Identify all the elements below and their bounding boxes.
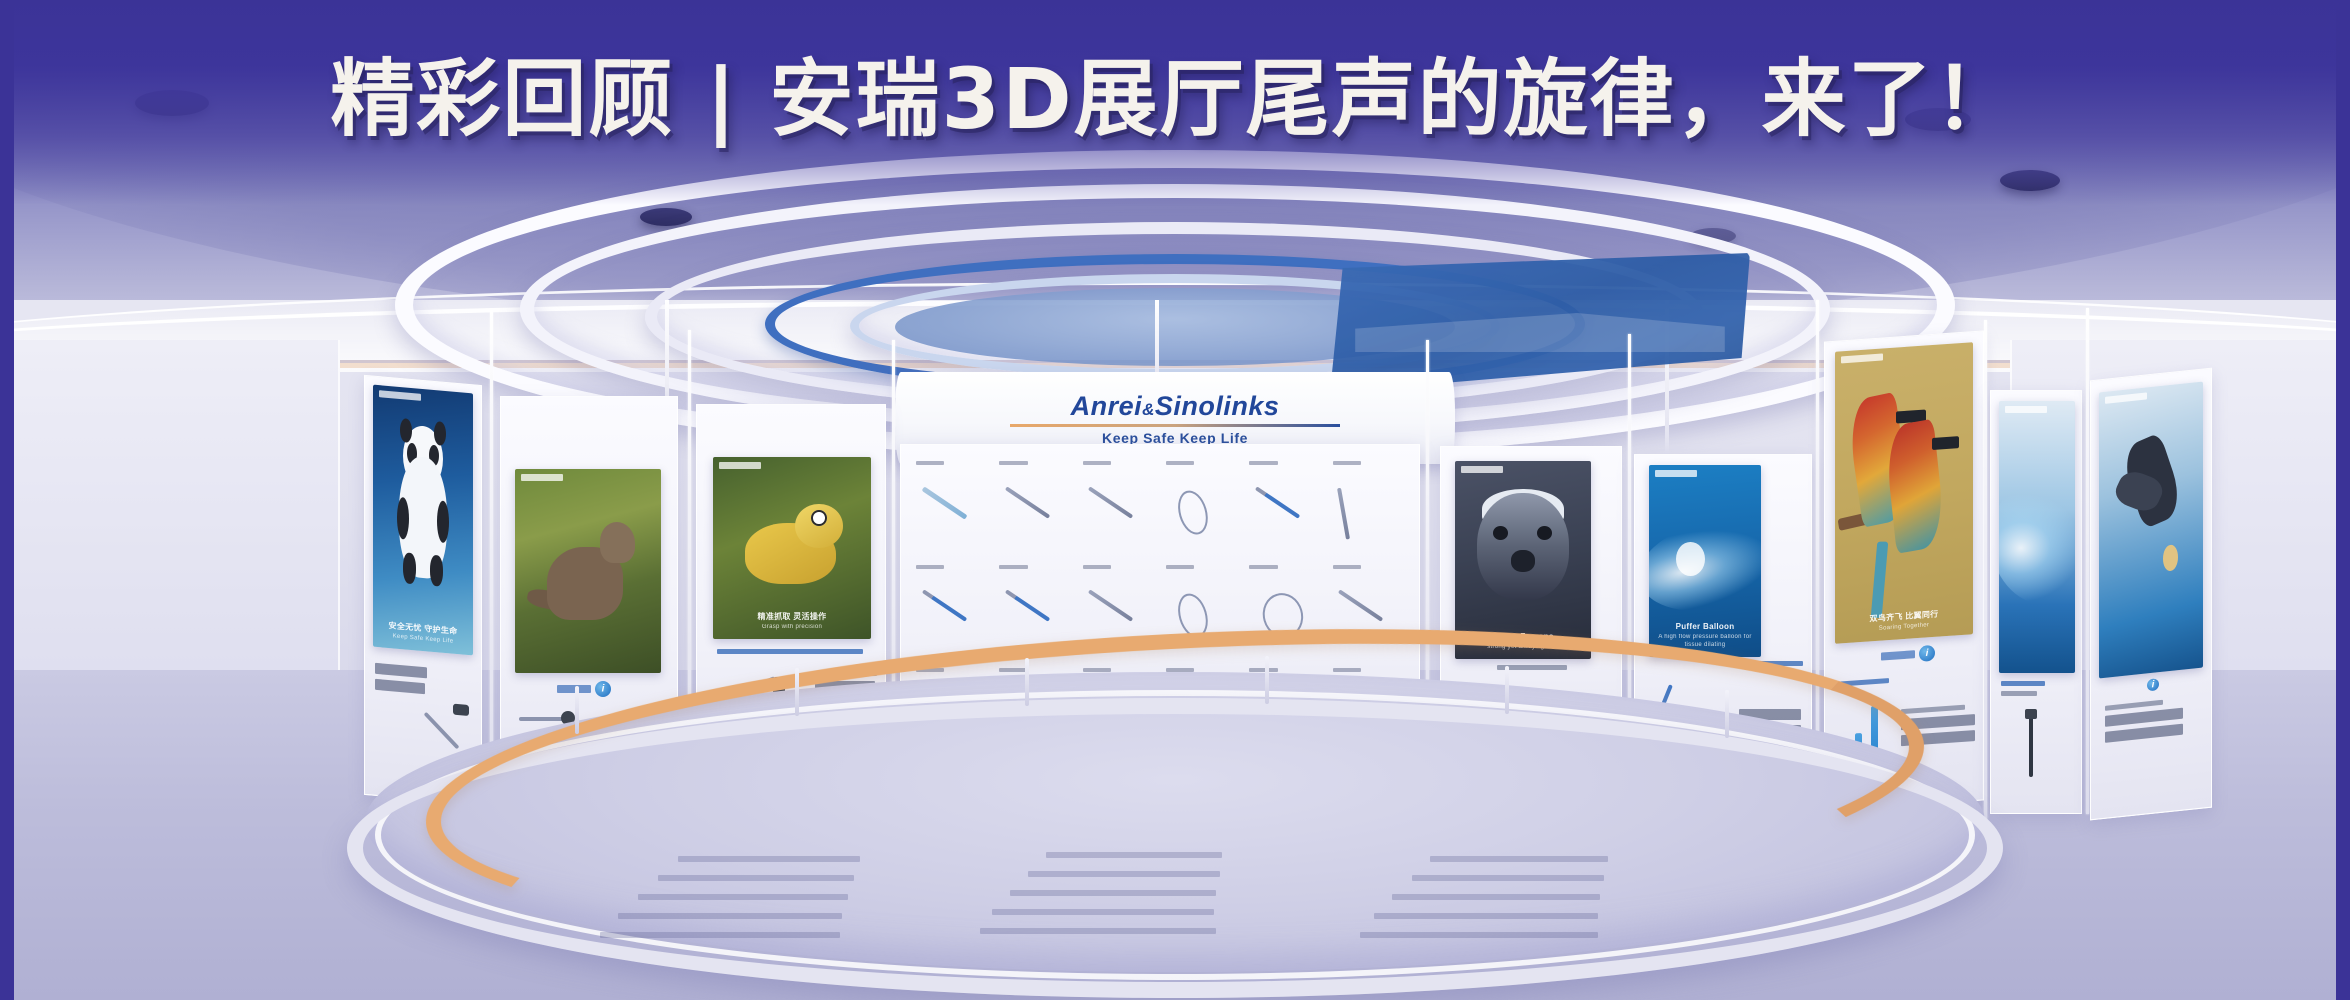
panda-ear-left [400,418,412,443]
frog-poster[interactable]: 精准抓取 灵活操作 Grasp with precision [713,457,871,639]
logo-wordmark [1881,650,1915,660]
product-cell[interactable] [1161,455,1244,558]
bee-eater-poster[interactable]: 双鸟齐飞 比翼同行 Soaring Together [1835,342,1973,644]
product-cell[interactable] [1328,455,1411,558]
poster-caption [2099,660,2203,671]
poster-caption: 安全无忧 守护生命 Keep Safe Keep Life [373,620,473,648]
poster-logo-icon [379,390,421,401]
panda-arm-left [397,497,409,540]
floor-text-block-right [1360,856,1610,951]
hanging-rod [2086,308,2089,814]
railing-post [1505,666,1509,714]
panda-arm-right [437,500,449,543]
brand-i-logo [2147,678,2159,691]
wave-poster[interactable] [1999,401,2075,673]
brand-i-logo [1881,645,1935,665]
panda-leg-left [403,552,416,585]
poster-logo-icon [2005,406,2047,413]
product-cell[interactable] [1244,455,1327,558]
kangaroo-head [600,522,635,563]
poster-caption: 双鸟齐飞 比翼同行 Soaring Together [1835,607,1973,636]
board-wave[interactable] [1990,390,2082,814]
right-border-strip [2336,0,2350,1000]
panda-leg-right [430,555,443,588]
panda-ear-right [434,421,446,446]
bird-beak-two [1932,437,1960,451]
panda-poster[interactable]: 安全无忧 守护生命 Keep Safe Keep Life [373,385,473,656]
railing-post [575,686,579,734]
poster-logo-icon [2105,392,2147,403]
poster-caption: 精准抓取 灵活操作 Grasp with precision [713,612,871,631]
poster-logo-icon [521,474,563,481]
page-title: 精彩回顾 | 安瑞3D展厅尾声的旋律，来了！ [0,32,2350,153]
poster-logo-icon [1841,353,1883,363]
railing-post [1265,656,1269,704]
poster-logo-icon [719,462,761,469]
poster-logo-icon [1655,470,1697,477]
badger-nose [1511,550,1535,572]
puffer-balloon-poster[interactable]: Puffer Balloon A high flow pressure ball… [1649,465,1761,657]
seabird-poster[interactable] [2099,382,2203,679]
product-cell[interactable] [1078,455,1161,558]
product-cell[interactable] [911,455,994,558]
badger-eye-right [1537,526,1552,540]
railing-post [1725,690,1729,738]
kangaroo-poster[interactable] [515,469,661,673]
board-caption-wave [2001,681,2061,701]
board-headline-frog [717,649,867,659]
floor-text-block-left [600,856,860,951]
ceiling-light-icon [2000,170,2060,191]
honey-badger-poster[interactable]: Power Forceps strong yet always gentle [1455,461,1591,659]
bird-tail [1870,541,1888,617]
balloon-bubble [1676,542,1705,577]
i-logo-icon [1919,645,1935,662]
water-swirl [1649,508,1761,623]
board-caption-seabird [2105,697,2189,748]
poster-logo-icon [1461,466,1503,473]
badger-head [1477,493,1569,600]
railing-post [1025,658,1029,706]
exhibition-hall-banner: Anrei&Sinolinks Keep Safe Keep Life 安全无忧 [0,0,2350,1000]
board-seabird[interactable] [2090,368,2212,821]
floor-text-block-center [980,852,1230,947]
railing-post [795,668,799,716]
left-border-strip [0,0,14,1000]
sun-icon [2163,544,2178,571]
i-logo-icon [2147,678,2159,691]
frog-eye [811,510,827,526]
product-cell[interactable] [994,455,1077,558]
device-illustration [2017,709,2047,789]
water-swirl [1999,474,2075,614]
product-cell[interactable] [911,558,994,661]
